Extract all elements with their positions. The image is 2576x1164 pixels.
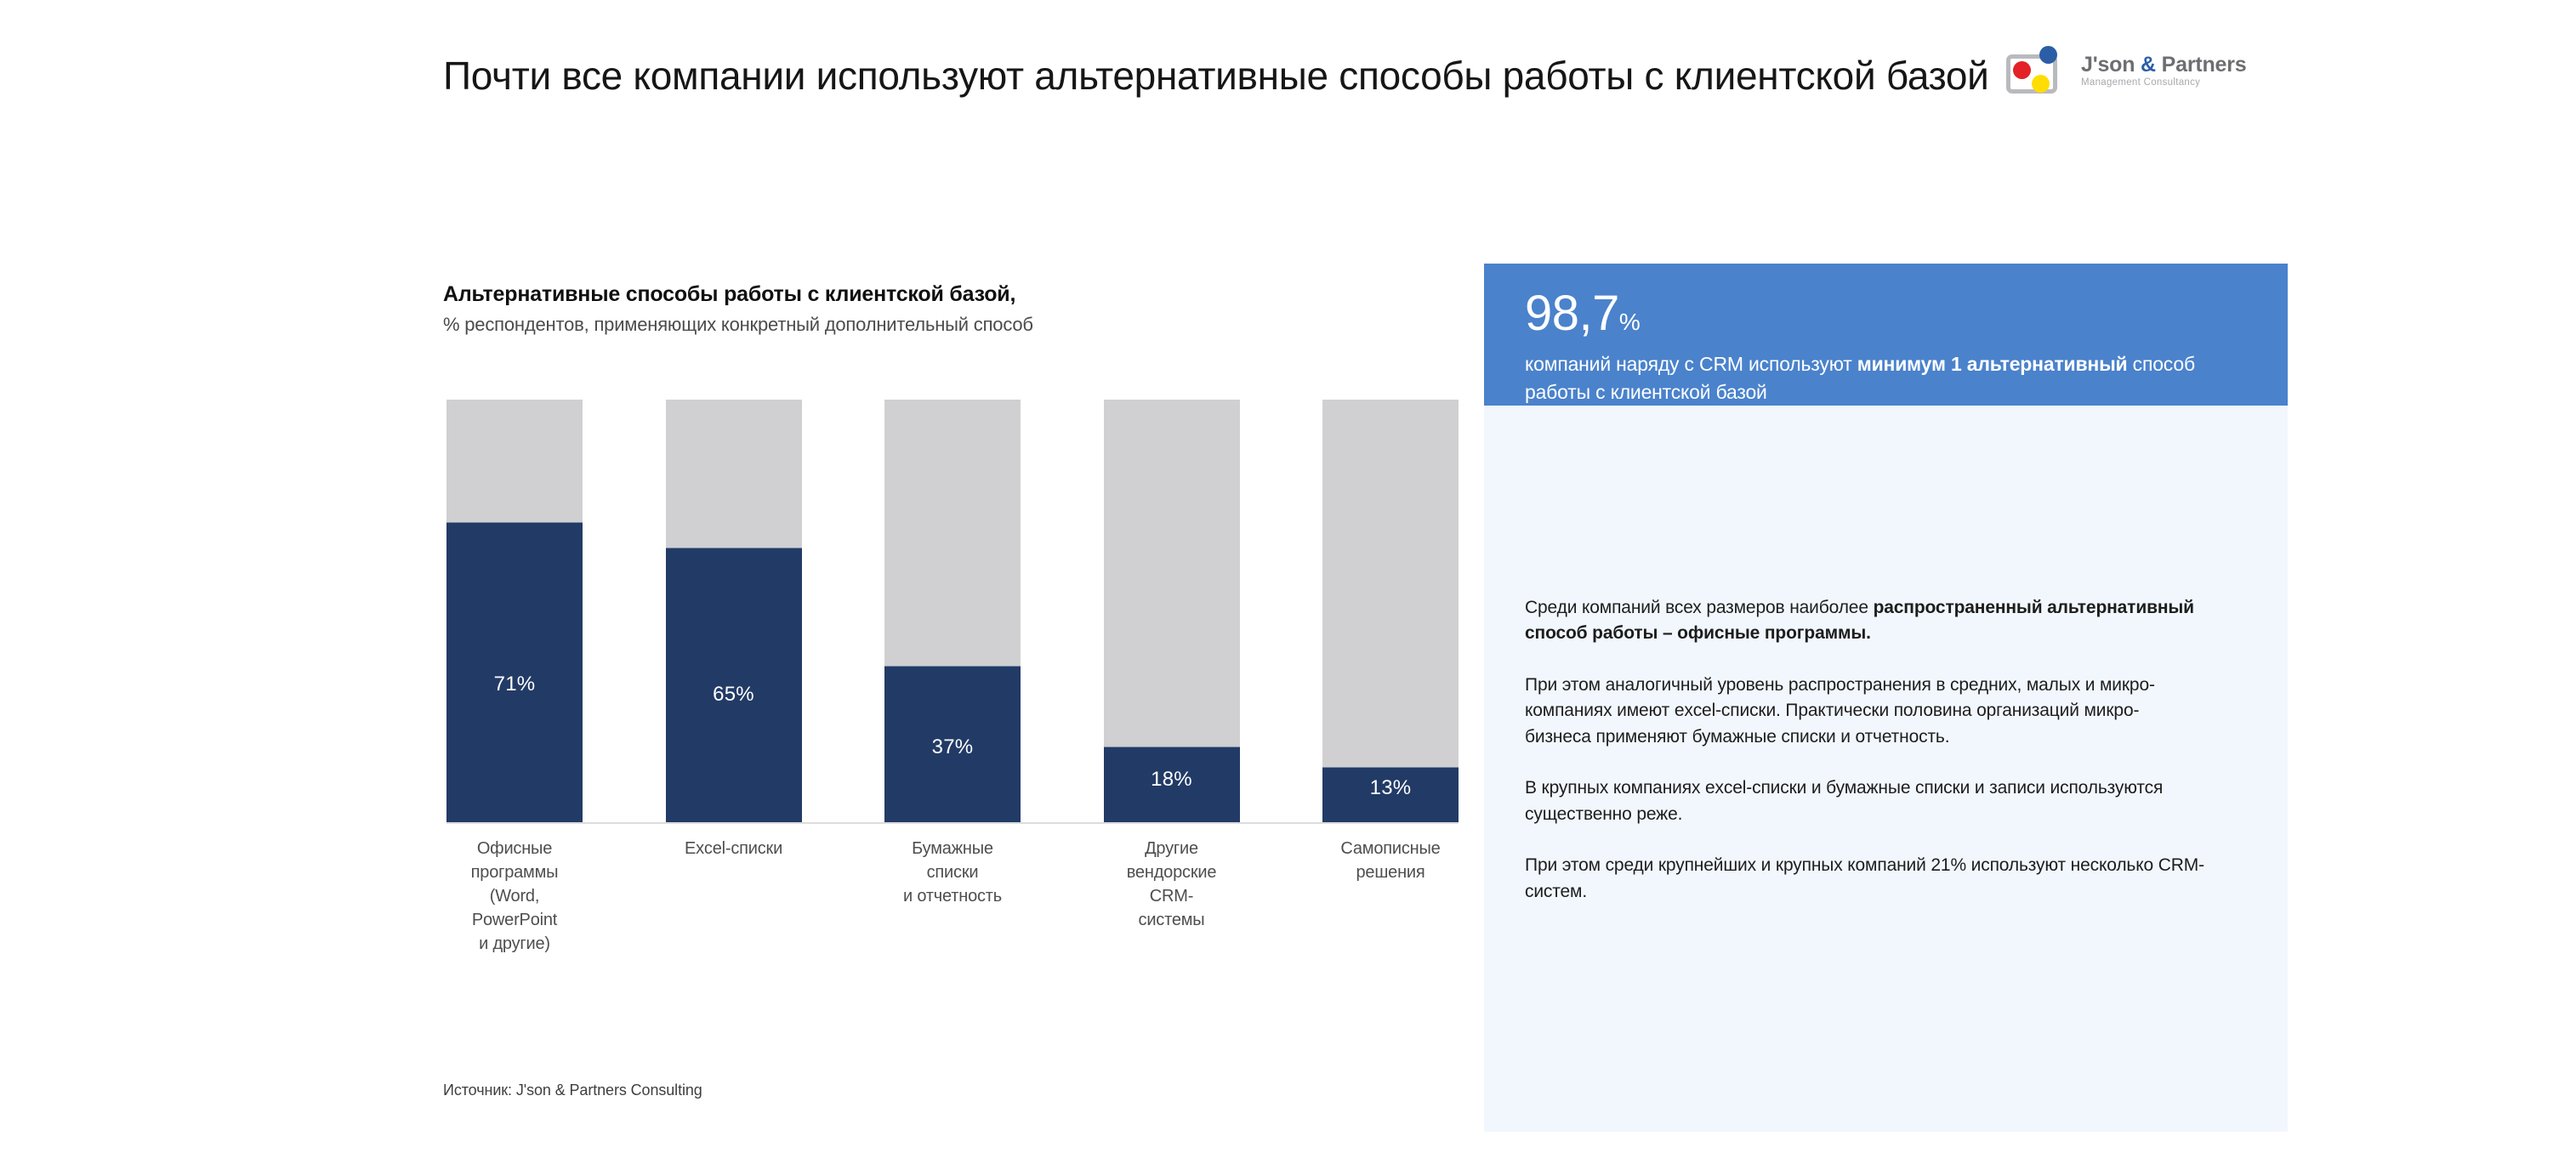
bar-column: 13% xyxy=(1322,400,1459,822)
x-axis-label-line: решения xyxy=(1322,860,1459,884)
bar-track xyxy=(666,400,802,822)
paragraph-lead: При этом среди крупнейших и крупных комп… xyxy=(1525,855,2204,900)
bar-column: 65% xyxy=(666,400,802,822)
x-axis-category-labels: Офисныепрограммы(Word, PowerPointи други… xyxy=(446,837,1459,956)
bar-track xyxy=(446,400,583,822)
x-axis-label-line: программы xyxy=(446,860,583,884)
x-axis-label-line: Самописные xyxy=(1322,837,1459,860)
bar-column: 18% xyxy=(1104,400,1240,822)
x-axis-label: Самописныерешения xyxy=(1322,837,1459,956)
x-axis-label: Офисныепрограммы(Word, PowerPointи други… xyxy=(446,837,583,956)
stat-value: 98,7% xyxy=(1525,289,2254,338)
bar-track xyxy=(1104,400,1240,822)
x-axis-label-line: Офисные xyxy=(446,837,583,860)
bar-value-label: 37% xyxy=(884,735,1021,759)
bar-value-label: 13% xyxy=(1322,776,1459,800)
insight-paragraph: При этом среди крупнейших и крупных комп… xyxy=(1525,853,2205,905)
bar-group: 71%65%37%18%13% xyxy=(446,400,1459,822)
stat-line1: компаний наряду с CRM используют xyxy=(1525,353,1857,375)
stat-bold-phrase: минимум 1 альтернативный xyxy=(1857,353,2128,375)
x-axis-label-line: и отчетность xyxy=(884,884,1021,908)
insight-paragraphs: Среди компаний всех размеров наиболее ра… xyxy=(1525,595,2205,905)
insight-paragraph: Среди компаний всех размеров наиболее ра… xyxy=(1525,595,2205,647)
stat-description: компаний наряду с CRM используют минимум… xyxy=(1525,350,2254,406)
x-axis-label: Другиевендорские CRM-системы xyxy=(1104,837,1240,956)
paragraph-lead: При этом аналогичный уровень распростран… xyxy=(1525,675,2155,747)
x-axis-label-line: Excel-списки xyxy=(666,837,802,860)
x-axis-label-line: системы xyxy=(1104,908,1240,932)
source-note: Источник: J'son & Partners Consulting xyxy=(443,1082,702,1099)
chart-subtitle: % респондентов, применяющих конкретный д… xyxy=(443,312,1464,338)
x-axis-label: Бумажные спискии отчетность xyxy=(884,837,1021,956)
x-axis-label-line: вендорские CRM- xyxy=(1104,860,1240,908)
bar-value-label: 65% xyxy=(666,683,802,707)
x-axis-label-line: Бумажные списки xyxy=(884,837,1021,884)
bar-chart-plot: 71%65%37%18%13% xyxy=(446,400,1459,822)
stat-percent-sign: % xyxy=(1619,309,1641,335)
chart-header: Альтернативные способы работы с клиентск… xyxy=(443,281,1464,337)
x-axis-label-line: и другие) xyxy=(446,932,583,956)
bar-column: 37% xyxy=(884,400,1021,822)
stat-number-text: 98,7 xyxy=(1525,286,1619,341)
stat-callout-content: 98,7% компаний наряду с CRM используют м… xyxy=(1525,289,2254,406)
bar-value-label: 18% xyxy=(1104,768,1240,792)
bar-value-label: 71% xyxy=(446,673,583,696)
insight-paragraph: При этом аналогичный уровень распростран… xyxy=(1525,673,2205,750)
insight-paragraph: В крупных компаниях excel-списки и бумаж… xyxy=(1525,775,2205,827)
paragraph-lead: В крупных компаниях excel-списки и бумаж… xyxy=(1525,778,2163,823)
x-axis-label-line: (Word, PowerPoint xyxy=(446,884,583,932)
bar-column: 71% xyxy=(446,400,583,822)
x-axis-label: Excel-списки xyxy=(666,837,802,956)
paragraph-lead: Среди компаний всех размеров наиболее xyxy=(1525,598,1874,617)
slide: J'son & Partners Management Consultancy … xyxy=(0,0,2576,1164)
page-title: Почти все компании используют альтернати… xyxy=(443,51,2186,100)
stat-callout: 98,7% компаний наряду с CRM используют м… xyxy=(1484,264,2288,406)
bar-track xyxy=(1322,400,1459,822)
x-axis-line xyxy=(446,822,1459,824)
chart-title: Альтернативные способы работы с клиентск… xyxy=(443,281,1464,309)
x-axis-label-line: Другие xyxy=(1104,837,1240,860)
